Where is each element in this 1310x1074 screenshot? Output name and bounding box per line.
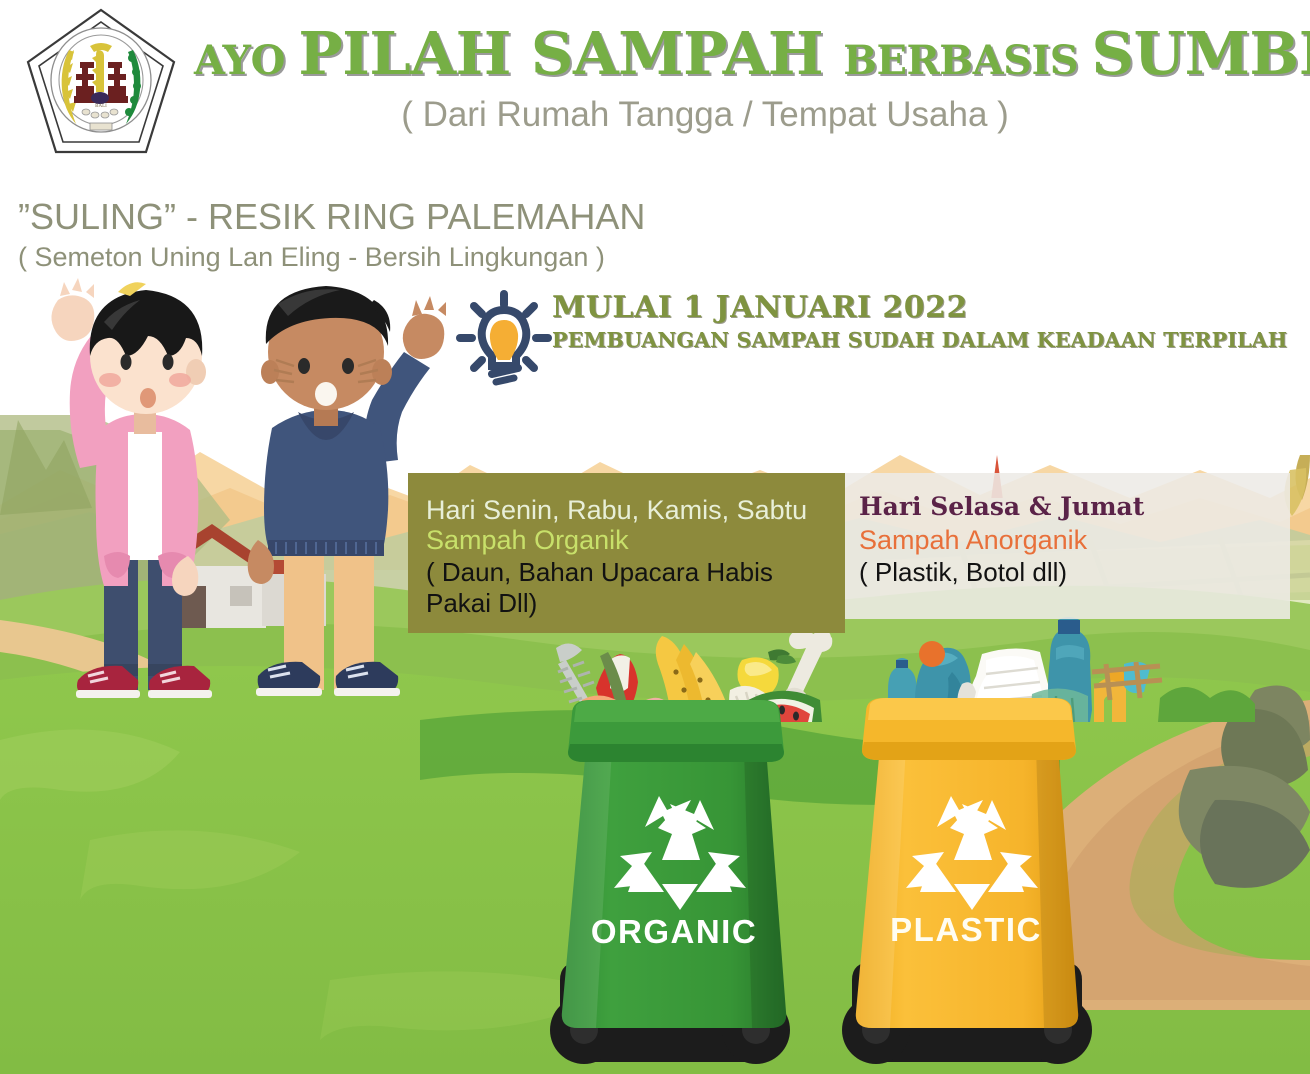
announcement-line-1: MULAI 1 JANUARI 2022 [552, 290, 1287, 325]
schedule-card-anorganic: Hari Selasa & Jumat Sampah Anorganik ( P… [845, 473, 1290, 619]
organic-note-2: Pakai Dll) [426, 588, 835, 619]
bin-label-organic: ORGANIC [591, 913, 757, 950]
anorganic-days: Hari Selasa & Jumat [859, 493, 1280, 522]
anorganic-note: ( Plastik, Botol dll) [859, 557, 1280, 588]
bin-plastic: PLASTIC [842, 698, 1092, 1064]
bin-organic: ORGANIC [550, 700, 790, 1064]
bin-label-plastic: PLASTIC [890, 911, 1042, 948]
announcement-text: MULAI 1 JANUARI 2022 PEMBUANGAN SAMPAH S… [552, 290, 1287, 352]
program-name-block: ”SULING” - RESIK RING PALEMAHAN ( Semeto… [18, 196, 645, 273]
announcement-line-2: PEMBUANGAN SAMPAH SUDAH DALAM KEADAAN TE… [552, 328, 1287, 352]
organic-days: Hari Senin, Rabu, Kamis, Sabtu [426, 495, 835, 525]
lightbulb-icon [452, 286, 556, 386]
schedule-card-organic: Hari Senin, Rabu, Kamis, Sabtu Sampah Or… [408, 473, 845, 633]
anorganic-type: Sampah Anorganik [859, 524, 1280, 556]
schedule-boxes: Hari Senin, Rabu, Kamis, Sabtu Sampah Or… [408, 473, 1290, 633]
program-name: ”SULING” - RESIK RING PALEMAHAN [18, 196, 645, 238]
poster: BALI AYO PILAH SAMPAH BERBASIS SUMBER ( … [0, 0, 1310, 1074]
organic-note-1: ( Daun, Bahan Upacara Habis [426, 557, 835, 588]
program-expansion: ( Semeton Uning Lan Eling - Bersih Lingk… [18, 242, 645, 273]
organic-type: Sampah Organik [426, 525, 835, 556]
